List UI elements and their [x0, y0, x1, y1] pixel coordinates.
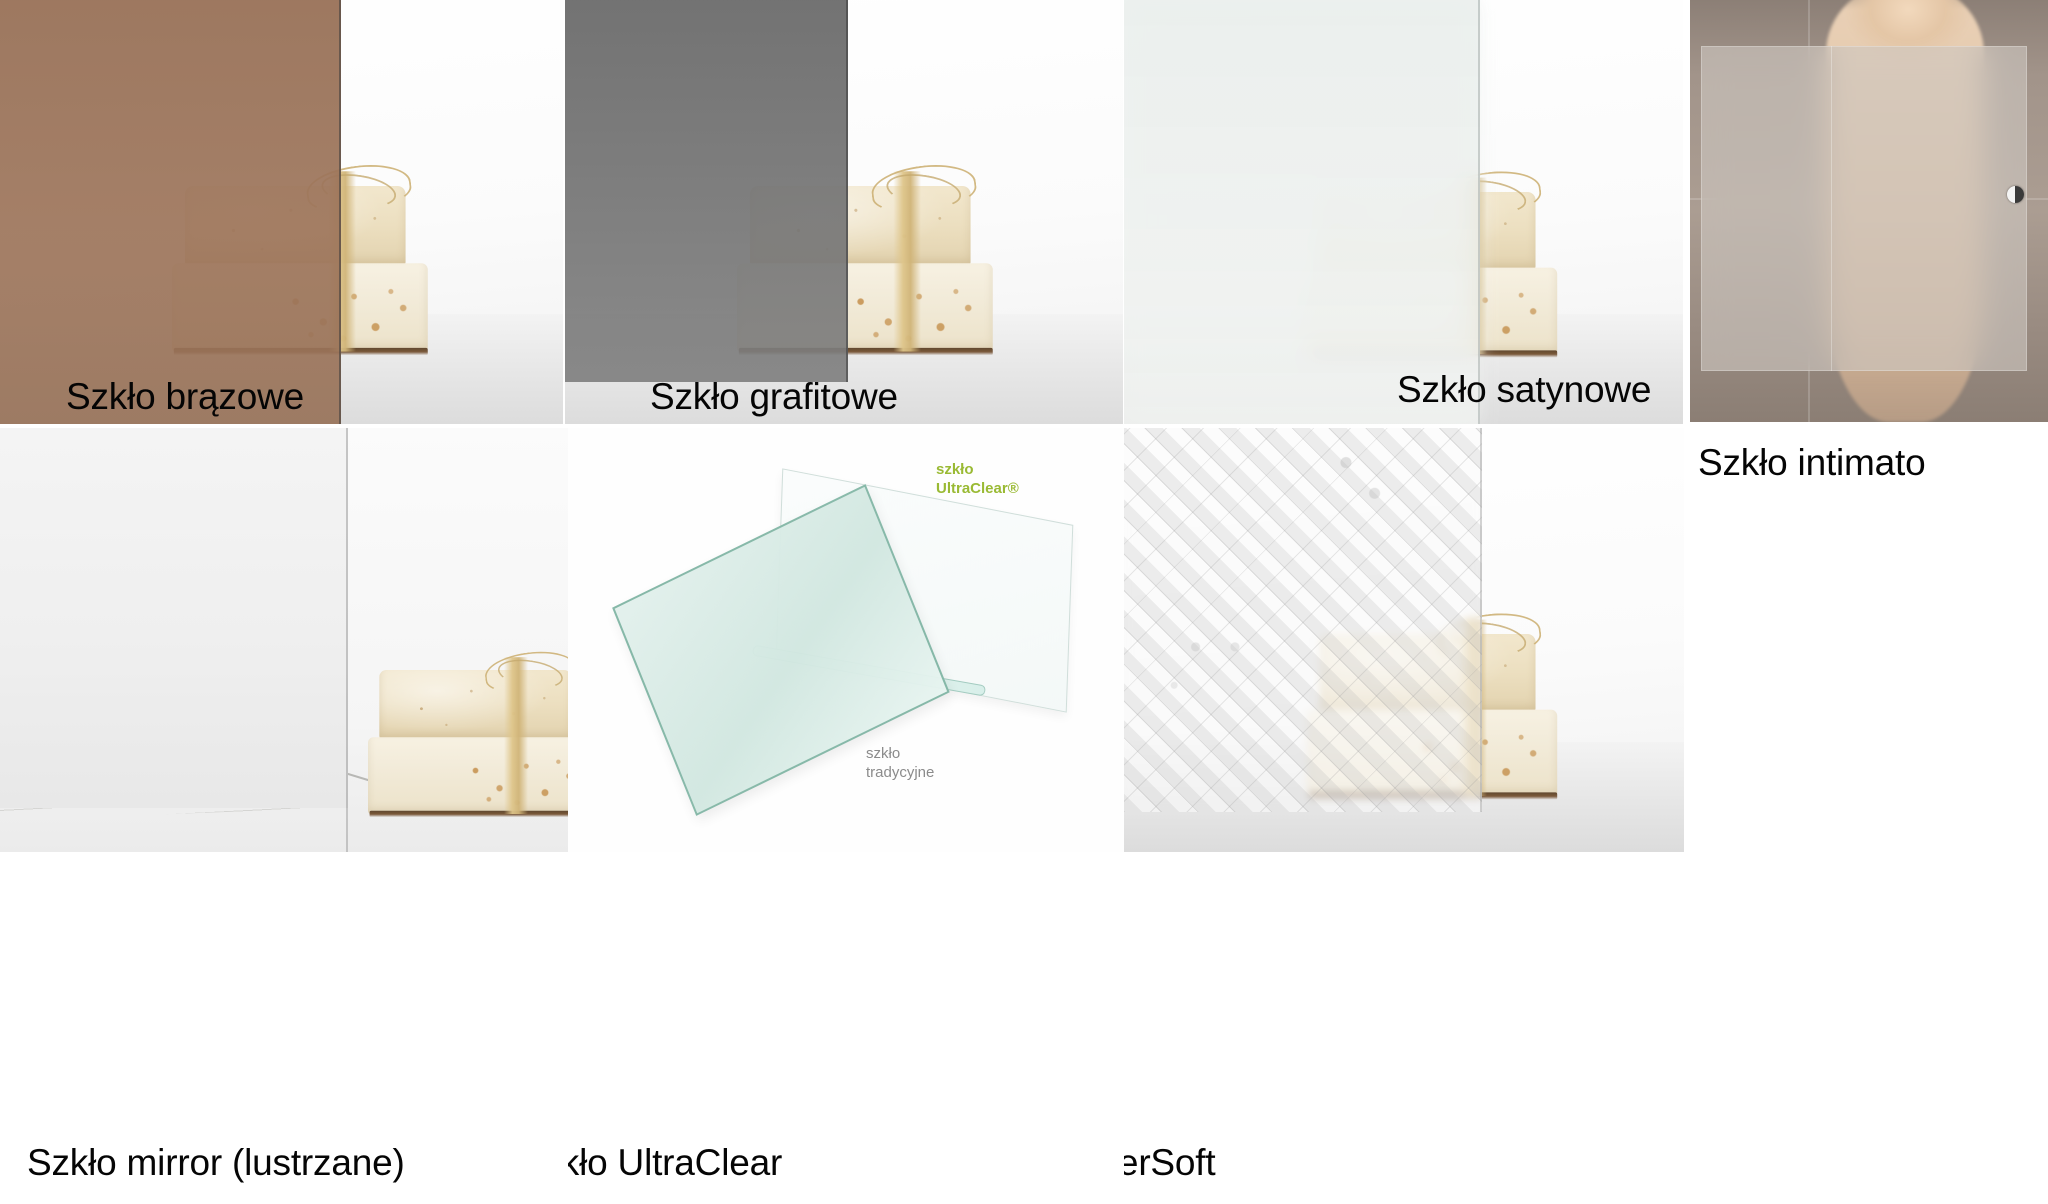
panel-szklo-grafitowe[interactable]: Szkło grafitowe — [565, 0, 1123, 424]
soap-bar-bottom — [368, 737, 568, 814]
panel-szklo-ultraclear-caption: Szkło UltraClear — [568, 1144, 782, 1181]
frosted-panel-seam — [1831, 46, 1832, 371]
glass-pane-satynowe — [1124, 0, 1480, 424]
panel-szklo-satynowe-photo — [1124, 0, 1683, 424]
panel-szklo-ultraclear[interactable]: szkło UltraClear® szkło tradycyjne Szkło… — [568, 428, 1124, 1204]
panel-szklo-satynowe[interactable]: Szkło satynowe — [1124, 0, 1683, 424]
panel-szklo-satynowe-caption: Szkło satynowe — [1397, 371, 1651, 408]
panel-szklo-mastersoft-caption: Szkło MasterSoft — [1124, 1144, 1215, 1181]
glass-types-comparison-board: Szkło brązowe Szkło grafitowe — [0, 0, 2048, 1204]
panel-szklo-mirror[interactable]: Szkło mirror (lustrzane) — [0, 428, 568, 1204]
shower-door-knob-icon[interactable] — [2007, 186, 2024, 203]
panel-szklo-ultraclear-photo: szkło UltraClear® szkło tradycyjne — [568, 428, 1124, 852]
shower-scene — [1690, 0, 2048, 422]
glass-pane-edge — [846, 0, 848, 382]
soap-bar-shadow — [370, 811, 568, 817]
panel-szklo-intimato-caption: Szkło intimato — [1698, 444, 1926, 481]
panel-szklo-brazowe-photo — [0, 0, 563, 424]
traditional-annotation: szkło tradycyjne — [866, 744, 934, 782]
glass-pane-edge — [339, 0, 341, 424]
glass-pane-mastersoft — [1124, 428, 1482, 812]
glass-pane-edge — [1480, 428, 1482, 812]
ultraclear-annotation: szkło UltraClear® — [936, 460, 1019, 498]
panel-szklo-mastersoft-photo — [1124, 428, 1684, 852]
panel-szklo-intimato[interactable]: Szkło intimato — [1690, 0, 2048, 490]
glass-pane-mirror — [0, 428, 348, 808]
panel-szklo-intimato-photo — [1690, 0, 2048, 422]
ultraclear-scene: szkło UltraClear® szkło tradycyjne — [568, 428, 1124, 852]
glass-pane-edge — [346, 428, 348, 808]
panel-szklo-mirror-caption: Szkło mirror (lustrzane) — [27, 1144, 405, 1181]
glass-pane-edge — [1478, 0, 1480, 424]
panel-szklo-mastersoft[interactable]: Szkło MasterSoft — [1124, 428, 1684, 1204]
panel-szklo-mirror-photo — [0, 428, 568, 852]
mastersoft-texture-highlights — [1124, 428, 1482, 812]
panel-szklo-brazowe[interactable]: Szkło brązowe — [0, 0, 563, 424]
soap-bars-group — [368, 670, 568, 830]
panel-szklo-grafitowe-caption: Szkło grafitowe — [650, 378, 898, 415]
panel-szklo-grafitowe-photo — [565, 0, 1123, 424]
panel-szklo-brazowe-caption: Szkło brązowe — [66, 378, 304, 415]
glass-pane-brazowe — [0, 0, 341, 424]
frosted-glass-panel — [1701, 46, 2027, 371]
glass-pane-grafitowe — [565, 0, 848, 382]
